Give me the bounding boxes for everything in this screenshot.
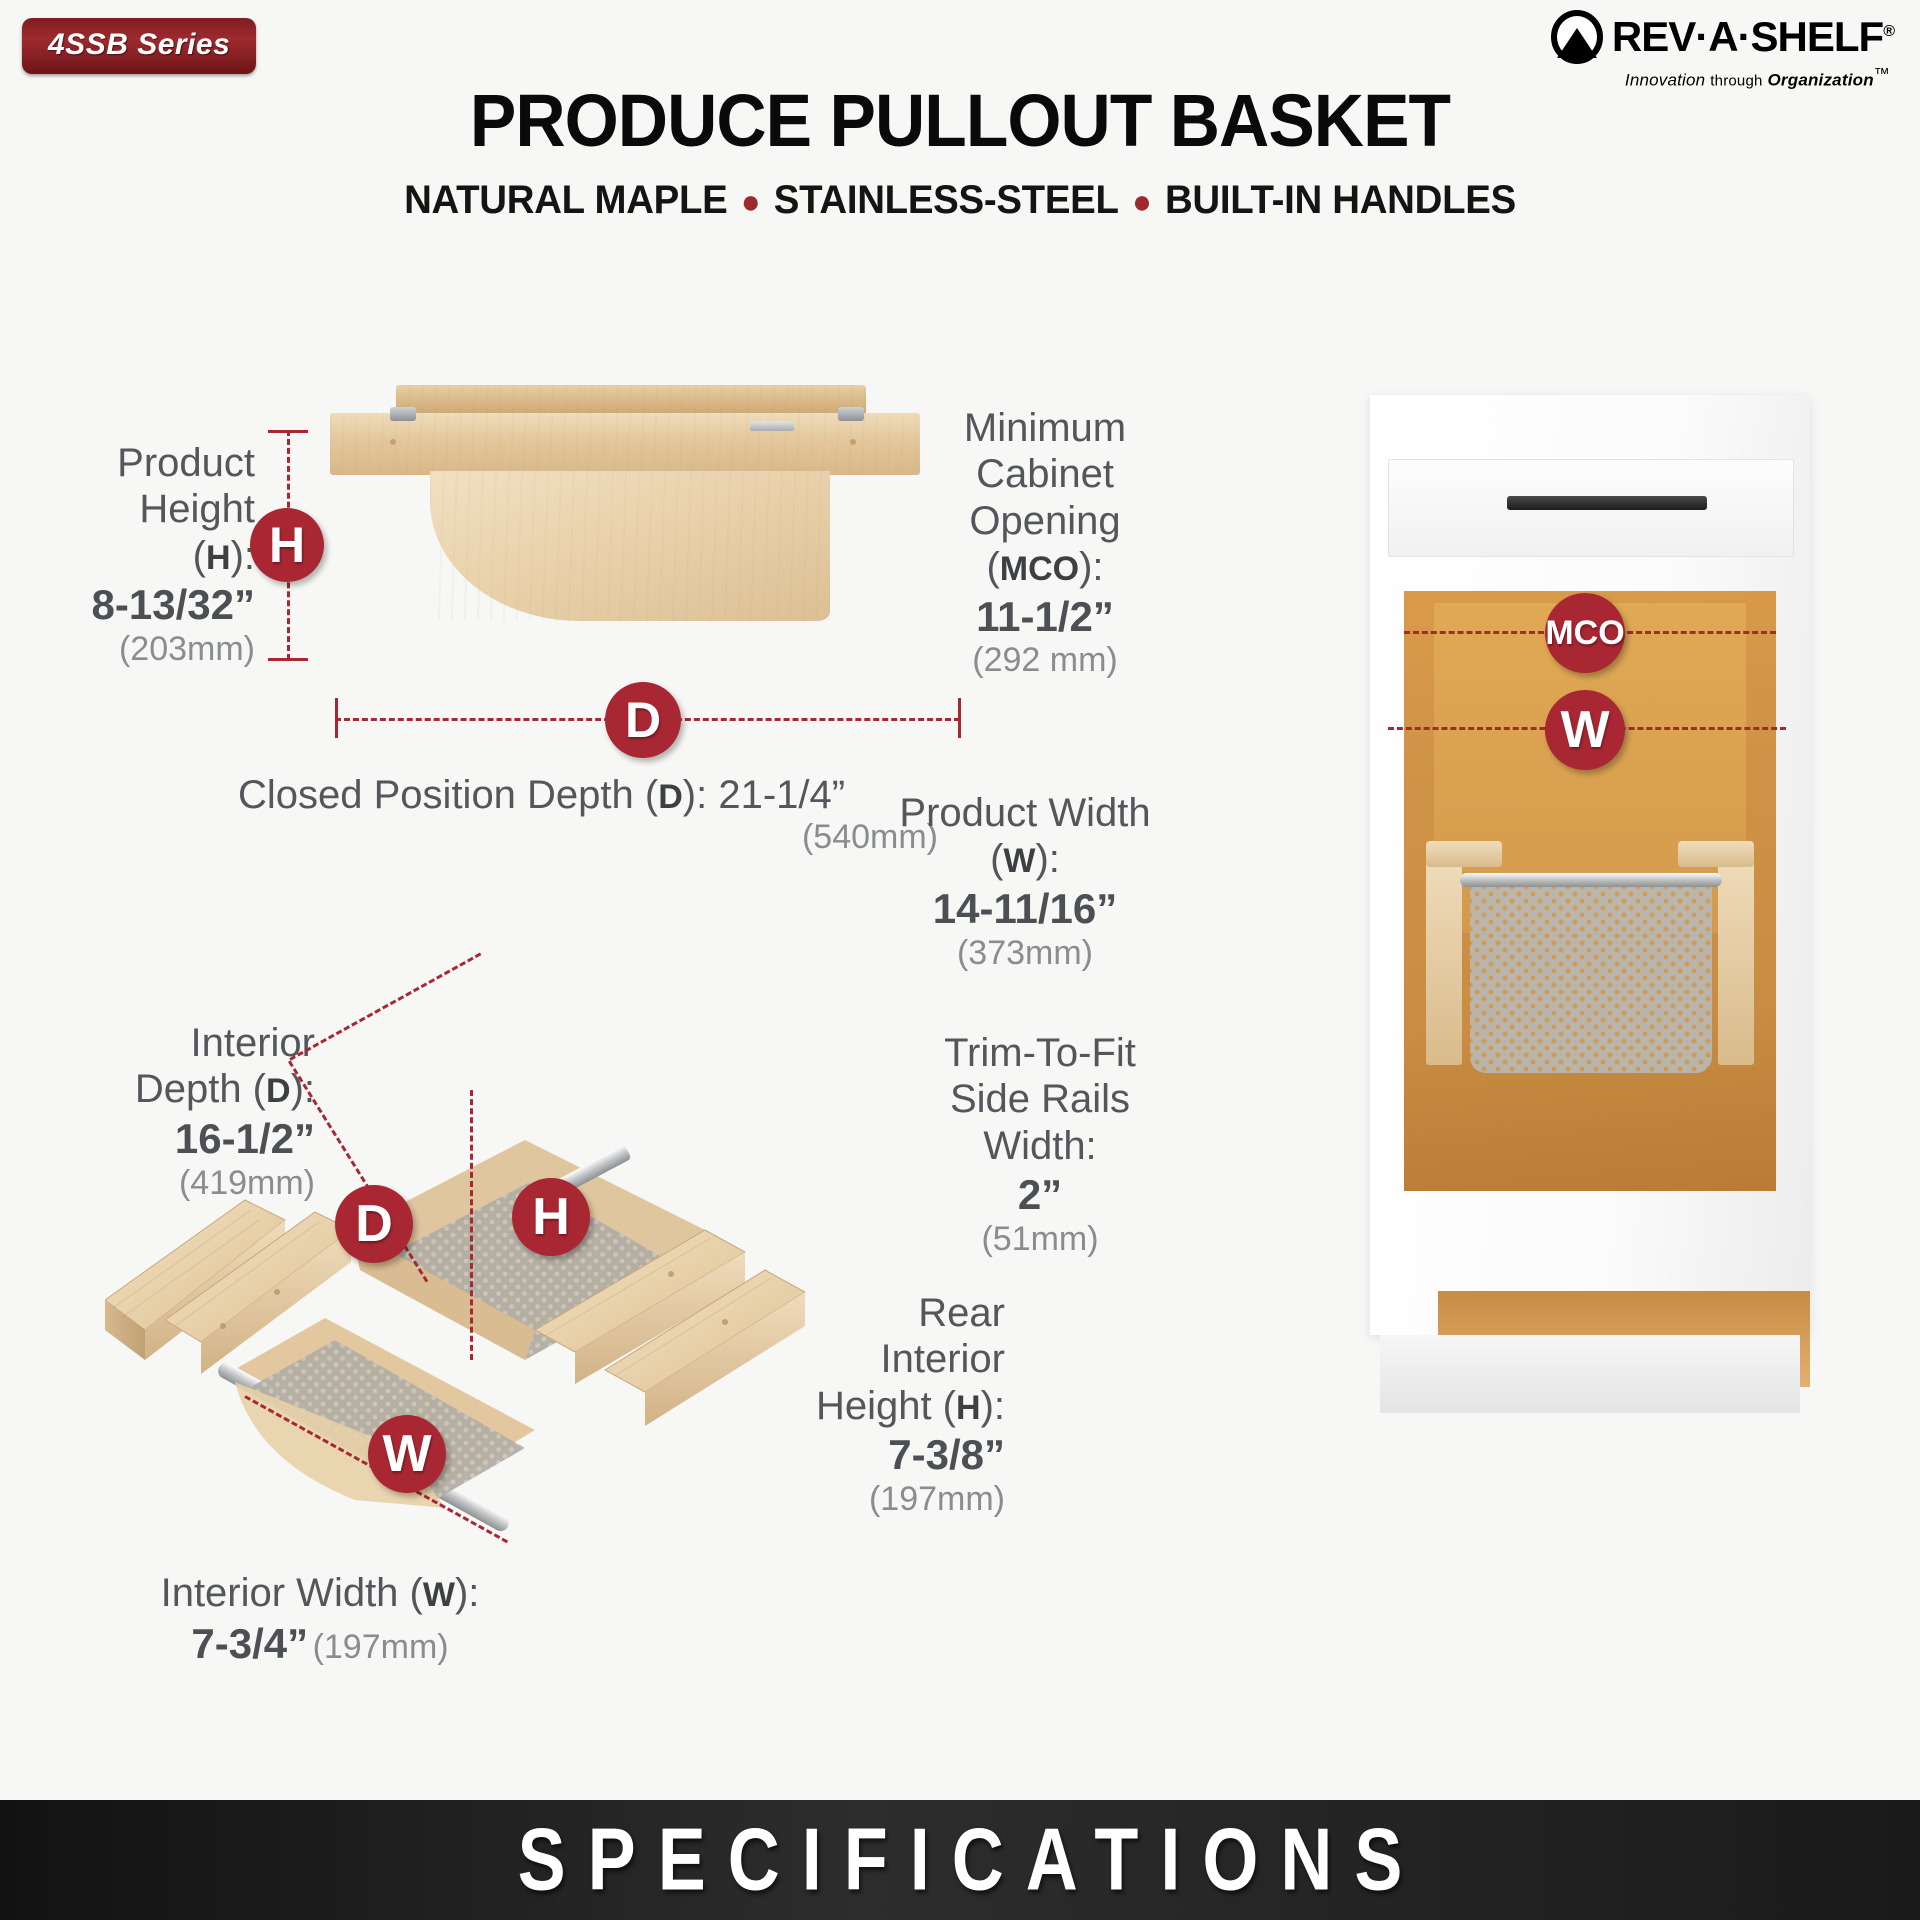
dimension-code: H: [206, 539, 231, 577]
spec-label-line: Minimum: [900, 405, 1190, 451]
spec-value: 2”: [890, 1171, 1190, 1220]
bullet-separator-2: ●: [1119, 183, 1165, 221]
spec-metric: (197mm): [313, 1628, 449, 1666]
spec-interior-width: Interior Width (W): 7-3/4” (197mm): [80, 1570, 560, 1669]
spec-metric: (540mm): [238, 818, 938, 857]
spec-label-line: Cabinet: [900, 451, 1190, 497]
banner-text: SPECIFICATIONS: [496, 1810, 1425, 1910]
closed-basket-illustration: [330, 385, 920, 675]
badge-interior-depth: D: [335, 1185, 413, 1263]
spec-label-line: (MCO):: [900, 544, 1190, 590]
open-basket-illustration: [105, 1030, 825, 1550]
spec-value: 8-13/32”: [20, 581, 255, 630]
spec-metric: (292 mm): [900, 641, 1190, 680]
spec-label-line: Side Rails: [890, 1076, 1190, 1122]
spec-closed-position-depth: Closed Position Depth (D): 21-1/4” (540m…: [238, 772, 968, 858]
spec-value: 14-11/16”: [860, 885, 1190, 934]
drawer-pull-handle: [1507, 496, 1707, 510]
page-title: PRODUCE PULLOUT BASKET: [58, 78, 1863, 163]
spec-value: 11-1/2”: [900, 593, 1190, 642]
dimension-code: H: [956, 1389, 981, 1427]
specification-sheet: 4SSB Series REV·A·SHELF® Innovation thro…: [0, 0, 1920, 1920]
dimension-code: MCO: [1000, 550, 1079, 588]
badge-mco: MCO: [1545, 593, 1625, 673]
spec-trim-to-fit-side-rails: Trim-To-Fit Side Rails Width: 2” (51mm): [890, 1030, 1190, 1259]
spec-label-line: Opening: [900, 498, 1190, 544]
spec-label-line: Product: [20, 440, 255, 486]
spec-label-line: Interior Width (W):: [80, 1570, 560, 1616]
dimension-code: W: [423, 1576, 455, 1614]
spec-label-line: Height: [20, 486, 255, 532]
subtitle-part-1: NATURAL MAPLE: [404, 178, 727, 222]
subtitle-part-3: BUILT-IN HANDLES: [1165, 178, 1516, 222]
series-badge: 4SSB Series: [22, 18, 256, 74]
spec-product-height: Product Height (H): 8-13/32” (203mm): [20, 440, 255, 669]
spec-metric: (51mm): [890, 1220, 1190, 1259]
spec-label-line: Width:: [890, 1123, 1190, 1169]
spec-value-with-metric: 7-3/4” (197mm): [80, 1620, 560, 1669]
badge-closed-depth: D: [605, 682, 681, 758]
spec-label-line: Product Width: [860, 790, 1190, 836]
spec-value: 7-3/4”: [191, 1620, 308, 1667]
bullet-separator-1: ●: [727, 183, 773, 221]
spec-label-line: Trim-To-Fit: [890, 1030, 1190, 1076]
spec-product-width: Product Width (W): 14-11/16” (373mm): [860, 790, 1190, 973]
spec-metric: (373mm): [860, 934, 1190, 973]
mountain-oval-logo-icon: [1550, 10, 1604, 64]
dimension-code: W: [1003, 842, 1035, 880]
specifications-banner: SPECIFICATIONS: [0, 1800, 1920, 1920]
brand-wordmark: REV·A·SHELF®: [1612, 16, 1894, 58]
badge-product-width: W: [1545, 690, 1625, 770]
spec-label-line: Closed Position Depth (D): 21-1/4”: [238, 772, 968, 818]
subtitle-part-2: STAINLESS-STEEL: [774, 178, 1119, 222]
badge-interior-width: W: [368, 1415, 446, 1493]
dimension-line-interior-height-guide: [470, 1090, 473, 1360]
spec-label-line: (W):: [860, 836, 1190, 882]
cabinet-illustration: [1370, 395, 1810, 1415]
spec-minimum-cabinet-opening: Minimum Cabinet Opening (MCO): 11-1/2” (…: [900, 405, 1190, 681]
spec-label-line: (H):: [20, 533, 255, 579]
dimension-code: D: [658, 778, 683, 816]
badge-product-height: H: [250, 508, 324, 582]
page-subtitle: NATURAL MAPLE●STAINLESS-STEEL●BUILT-IN H…: [38, 178, 1881, 223]
spec-metric: (203mm): [20, 630, 255, 669]
badge-rear-interior-height: H: [512, 1178, 590, 1256]
